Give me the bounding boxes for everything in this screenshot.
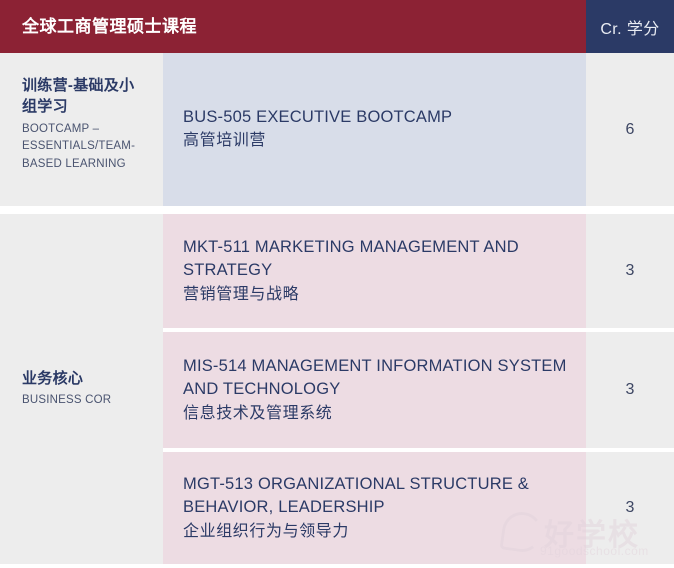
category-label-cn: 业务核心 <box>22 368 145 389</box>
page-title: 全球工商管理硕士课程 <box>22 18 197 35</box>
table-row[interactable]: MIS-514 MANAGEMENT INFORMATION SYSTEM AN… <box>163 332 674 448</box>
course-title-cn: 高管培训营 <box>183 130 568 153</box>
table-row[interactable]: BUS-505 EXECUTIVE BOOTCAMP 高管培训营 6 <box>163 53 674 206</box>
header-credit-cell: Cr. 学分 <box>586 0 674 53</box>
credit-value: 6 <box>586 53 674 206</box>
table-header: 全球工商管理硕士课程 Cr. 学分 <box>0 0 674 53</box>
credit-value: 3 <box>586 332 674 448</box>
credit-value: 3 <box>586 214 674 328</box>
credit-column-header: Cr. 学分 <box>600 15 659 39</box>
course-title-en: MKT-511 MARKETING MANAGEMENT AND STRATEG… <box>183 236 568 283</box>
category-label-en: BUSINESS COR <box>22 392 145 409</box>
rows-stack-bootcamp: BUS-505 EXECUTIVE BOOTCAMP 高管培训营 6 <box>163 53 674 206</box>
course-title-cn: 企业组织行为与领导力 <box>183 521 568 544</box>
course-title-cn: 信息技术及管理系统 <box>183 403 568 426</box>
curriculum-table: 全球工商管理硕士课程 Cr. 学分 训练营-基础及小组学习 BOOTCAMP –… <box>0 0 674 568</box>
header-title-cell: 全球工商管理硕士课程 <box>0 0 586 53</box>
section-bootcamp: 训练营-基础及小组学习 BOOTCAMP – ESSENTIALS/TEAM-B… <box>0 53 674 206</box>
course-cell: BUS-505 EXECUTIVE BOOTCAMP 高管培训营 <box>163 53 586 206</box>
category-label-cn: 训练营-基础及小组学习 <box>22 75 145 118</box>
table-row[interactable]: MKT-511 MARKETING MANAGEMENT AND STRATEG… <box>163 214 674 328</box>
section-business-core: 业务核心 BUSINESS COR MKT-511 MARKETING MANA… <box>0 214 674 564</box>
course-title-cn: 营销管理与战略 <box>183 284 568 307</box>
table-row[interactable]: MGT-513 ORGANIZATIONAL STRUCTURE & BEHAV… <box>163 452 674 564</box>
category-cell-bootcamp: 训练营-基础及小组学习 BOOTCAMP – ESSENTIALS/TEAM-B… <box>0 53 163 206</box>
course-title-en: BUS-505 EXECUTIVE BOOTCAMP <box>183 106 568 129</box>
course-cell: MIS-514 MANAGEMENT INFORMATION SYSTEM AN… <box>163 332 586 448</box>
rows-stack-business-core: MKT-511 MARKETING MANAGEMENT AND STRATEG… <box>163 214 674 564</box>
course-cell: MKT-511 MARKETING MANAGEMENT AND STRATEG… <box>163 214 586 328</box>
course-title-en: MGT-513 ORGANIZATIONAL STRUCTURE & BEHAV… <box>183 473 568 520</box>
category-label-en: BOOTCAMP – ESSENTIALS/TEAM-BASED LEARNIN… <box>22 121 145 173</box>
credit-value: 3 <box>586 452 674 564</box>
category-cell-business-core: 业务核心 BUSINESS COR <box>0 214 163 564</box>
course-title-en: MIS-514 MANAGEMENT INFORMATION SYSTEM AN… <box>183 355 568 402</box>
course-cell: MGT-513 ORGANIZATIONAL STRUCTURE & BEHAV… <box>163 452 586 564</box>
